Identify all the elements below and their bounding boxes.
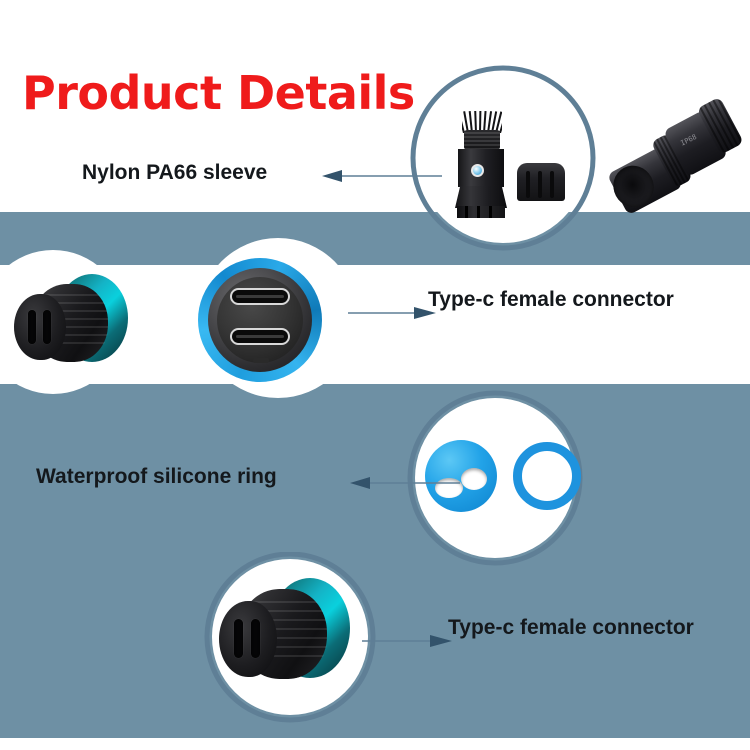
usb-c-port-2 (230, 328, 290, 345)
face-keying-notch (253, 358, 269, 363)
callout-label-nylon-sleeve: Nylon PA66 sleeve (82, 161, 267, 185)
callout-label-typec-bottom: Type-c female connector (448, 616, 694, 640)
sleeve-end-cap (517, 163, 565, 201)
connector-left-detail (10, 272, 135, 377)
callout-label-typec-top: Type-c female connector (428, 288, 674, 312)
connector-bottom-port-slot-1 (234, 619, 243, 658)
connector-bottom-detail (215, 575, 365, 700)
product-details-image: Product Details IP (0, 0, 750, 750)
sleeve-skirt (455, 186, 507, 208)
sleeve-blue-indicator (471, 164, 484, 177)
leader-line-nylon-sleeve (322, 158, 442, 194)
connector-face (14, 294, 66, 360)
sleeve-knurled-neck (464, 130, 500, 150)
usb-c-port-1 (230, 288, 290, 305)
sleeve-foot (457, 206, 505, 218)
connector-port-slot-2 (43, 310, 51, 344)
usb-c-face-detail (198, 258, 358, 418)
leader-line-typec-top (348, 300, 438, 326)
connector-bottom-face (219, 601, 277, 677)
connector-port-slot-1 (28, 310, 36, 344)
leader-line-silicone-ring (350, 466, 460, 500)
connector-bottom-port-slot-2 (251, 619, 260, 658)
gasket-hole-2 (461, 468, 487, 490)
leader-line-typec-bottom (362, 628, 458, 654)
page-title: Product Details (22, 66, 415, 120)
callout-label-silicone-ring: Waterproof silicone ring (36, 465, 277, 489)
silicone-o-ring (513, 442, 581, 510)
